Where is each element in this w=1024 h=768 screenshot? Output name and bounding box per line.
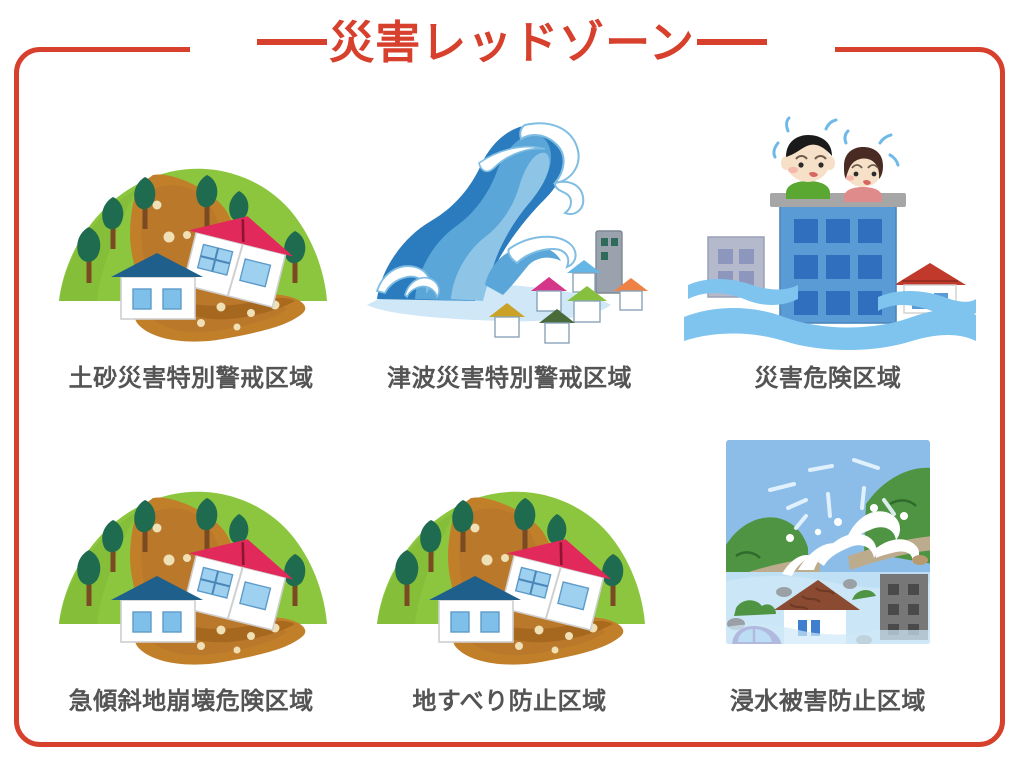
zone-card-landslide-prevention[interactable]: 地すべり防止区域 <box>350 397 668 726</box>
title-rule-right <box>697 39 767 45</box>
title-rule-left <box>257 39 327 45</box>
landslide-illustration <box>41 109 341 354</box>
zone-grid: 土砂災害特別警戒区域 <box>14 60 1005 740</box>
page-title: 災害レッドゾーン <box>327 20 697 65</box>
zone-card-steep-slope[interactable]: 急傾斜地崩壊危険区域 <box>32 397 350 726</box>
zone-card-inundation[interactable]: 浸水被害防止区域 <box>669 397 987 726</box>
zone-label-steep-slope: 急傾斜地崩壊危険区域 <box>69 681 314 716</box>
zone-label-hazard: 災害危険区域 <box>754 358 901 393</box>
zone-label-inundation: 浸水被害防止区域 <box>730 681 926 716</box>
zone-label-tsunami: 津波災害特別警戒区域 <box>387 358 632 393</box>
zone-card-sediment[interactable]: 土砂災害特別警戒区域 <box>32 68 350 397</box>
flood-building-illustration <box>678 109 978 354</box>
zone-card-tsunami[interactable]: 津波災害特別警戒区域 <box>350 68 668 397</box>
landslide-illustration <box>41 432 341 677</box>
inundation-illustration <box>678 432 978 677</box>
landslide-illustration <box>359 432 659 677</box>
zone-label-sediment: 土砂災害特別警戒区域 <box>69 358 314 393</box>
zone-label-landslide-prevention: 地すべり防止区域 <box>412 681 606 716</box>
zone-card-hazard[interactable]: 災害危険区域 <box>669 68 987 397</box>
tsunami-illustration <box>359 109 659 354</box>
